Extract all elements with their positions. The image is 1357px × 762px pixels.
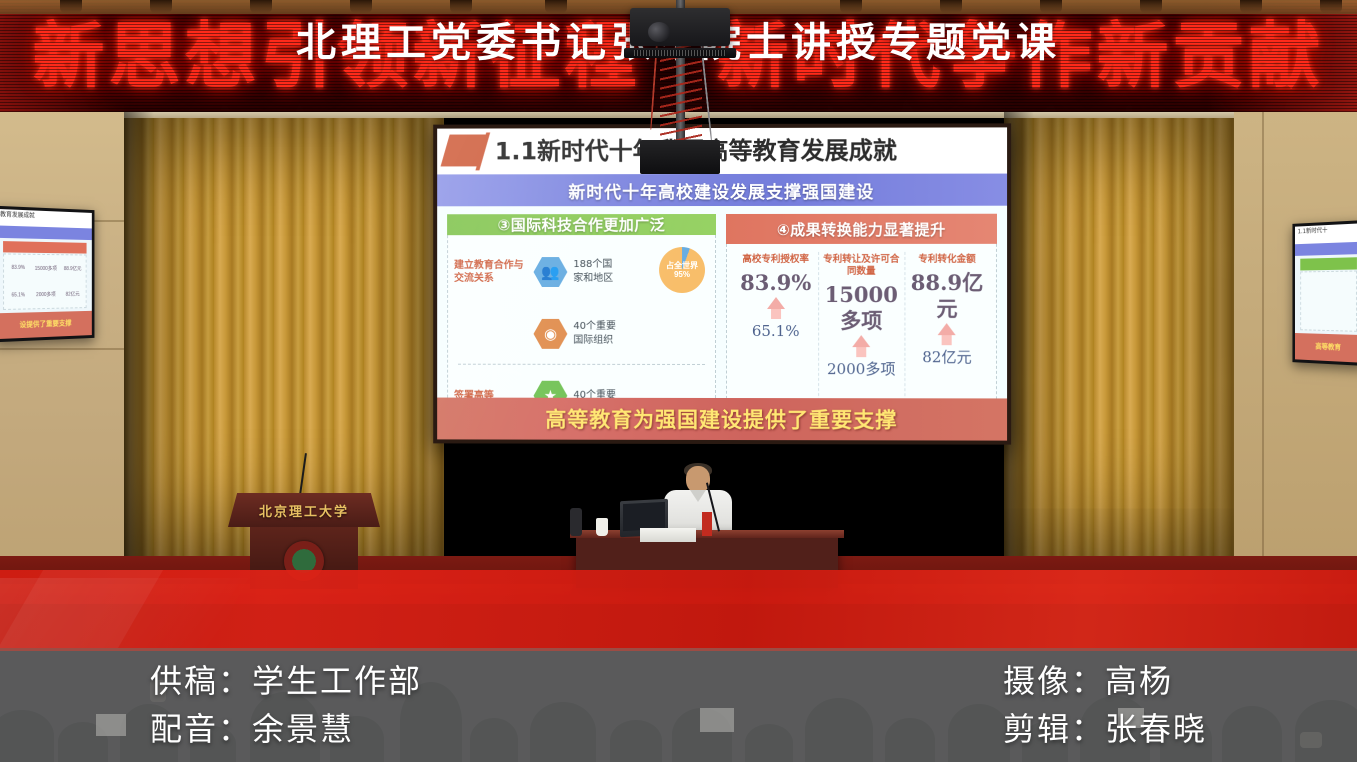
metric-column: 专利转化金额 88.9亿元 82亿元	[904, 250, 990, 414]
lectern-university-name: 北京理工大学	[228, 501, 380, 520]
stage-curtain-right	[1004, 108, 1234, 588]
side-monitor-left-content: 教育发展成就 83.9% 15000多项 88.9亿元 65.1% 2000多项…	[0, 209, 92, 339]
paper-cup	[596, 518, 608, 536]
arrow-stem-icon	[771, 309, 781, 319]
monitor-left-num-3: 88.9亿元	[59, 265, 85, 272]
projector-base	[640, 140, 720, 174]
slide-left-row-1-text: 188个国 家和地区	[573, 258, 613, 286]
monitor-left-band	[0, 226, 92, 240]
monitor-left-footer-text: 设提供了重要支撑	[20, 319, 72, 331]
slide-panel-right: ④成果转换能力显著提升 高校专利授权率 83.9% 65.1%	[726, 214, 997, 415]
slide-left-row-2-line-2: 国际组织	[573, 334, 616, 348]
monitor-left-num-6: 82亿元	[59, 291, 85, 298]
side-monitor-right-content: 1.1新时代十 高等教育	[1295, 223, 1357, 362]
slide-subtitle-text: 新时代十年高校建设发展支撑强国建设	[568, 177, 874, 202]
credits-content: 供稿：学生工作部 配音：余景慧 摄像：高杨 剪辑：张春晓	[0, 648, 1357, 762]
desk-flag-icon	[702, 512, 712, 536]
metric-column: 专利转让及许可合同数量 15000多项 2000多项	[818, 250, 904, 413]
arrow-up-icon	[852, 335, 870, 347]
lower-third-red-banner	[0, 570, 1357, 648]
auditorium-wall-left	[0, 108, 132, 588]
slide-footer-text: 高等教育为强国建设提供了重要支撑	[545, 404, 897, 435]
slide-panel-left-heading: ③国际科技合作更加广泛	[447, 214, 716, 235]
metric-current-value: 15000多项	[818, 282, 904, 334]
monitor-right-body	[1300, 271, 1357, 332]
metric-current-value: 83.9%	[733, 270, 818, 296]
video-frame: 教育发展成就 83.9% 15000多项 88.9亿元 65.1% 2000多项…	[0, 0, 1357, 762]
slide-left-row-1-label: 建立教育合作与交流关系	[454, 259, 528, 285]
slide-panel-left: ③国际科技合作更加广泛 占全世界 95% 建立教育合作与交流关系 👥 188个国…	[447, 214, 716, 414]
credit-line-contributor: 供稿：学生工作部	[150, 657, 422, 705]
arrow-up-icon	[767, 297, 785, 309]
credit-line-camera: 摄像：高杨	[1003, 657, 1207, 705]
metric-current-value: 88.9亿元	[904, 270, 990, 322]
slide-panel-right-heading: ④成果转换能力显著提升	[726, 214, 997, 244]
arrow-stem-icon	[942, 335, 952, 345]
speaker-head	[686, 466, 710, 493]
curtain-shadow-left	[124, 108, 154, 588]
monitor-left-head	[3, 241, 87, 254]
credit-line-editor: 剪辑：张春晓	[1003, 705, 1207, 753]
monitor-left-num-1: 83.9%	[4, 265, 32, 271]
credits-left-column: 供稿：学生工作部 配音：余景慧	[150, 657, 422, 753]
laptop-screen	[623, 502, 665, 531]
projector-vents	[634, 50, 726, 56]
monitor-left-num-2: 15000多项	[32, 265, 59, 272]
name-placard	[640, 528, 696, 542]
slide-right-columns: 高校专利授权率 83.9% 65.1% 专利转让及许可合同数量 15000多项	[733, 250, 990, 414]
metric-previous-value: 82亿元	[904, 347, 990, 367]
monitor-right-head	[1300, 257, 1357, 270]
monitor-left-body: 83.9% 15000多项 88.9亿元 65.1% 2000多项 82亿元	[3, 253, 87, 310]
credits-bar: 供稿：学生工作部 配音：余景慧 摄像：高杨 剪辑：张春晓	[0, 648, 1357, 762]
metric-caption: 专利转让及许可合同数量	[818, 254, 904, 278]
metric-previous-value: 2000多项	[818, 359, 904, 379]
slide-left-row-1-line-2: 家和地区	[573, 272, 613, 286]
slide-left-row-1-line-1: 188个国	[573, 258, 613, 272]
arrow-up-icon	[938, 323, 956, 335]
monitor-left-num-4: 65.1%	[4, 292, 32, 299]
side-monitor-right: 1.1新时代十 高等教育	[1292, 220, 1357, 366]
monitor-right-title: 1.1新时代十	[1295, 223, 1357, 244]
monitor-left-footer: 设提供了重要支撑	[0, 311, 92, 339]
metric-caption: 高校专利授权率	[733, 254, 818, 266]
speaker-person	[660, 466, 736, 536]
slide-panel-right-body: 高校专利授权率 83.9% 65.1% 专利转让及许可合同数量 15000多项	[726, 244, 997, 415]
credit-line-voiceover: 配音：余景慧	[150, 705, 422, 753]
monitor-right-footer: 高等教育	[1295, 333, 1357, 363]
projector-body	[630, 8, 730, 46]
slide-left-row-2-text: 40个重要 国际组织	[573, 320, 616, 348]
credits-right-column: 摄像：高杨 剪辑：张春晓	[1003, 657, 1207, 753]
metric-caption: 专利转化金额	[904, 254, 990, 266]
thermos-flask	[570, 508, 582, 536]
slide-left-row-2-line-1: 40个重要	[573, 320, 616, 334]
people-hex-icon: 👥	[534, 257, 568, 287]
metric-column: 高校专利授权率 83.9% 65.1%	[733, 250, 818, 413]
slide-left-row-1: 建立教育合作与交流关系 👥 188个国 家和地区	[454, 241, 709, 303]
ceiling-projector	[620, 0, 740, 180]
metric-previous-value: 65.1%	[733, 321, 818, 341]
arrow-stem-icon	[856, 347, 866, 357]
slide-panels: ③国际科技合作更加广泛 占全世界 95% 建立教育合作与交流关系 👥 188个国…	[437, 206, 1007, 415]
slide-left-row-2: ◉ 40个重要 国际组织	[454, 303, 709, 365]
projector-lens-icon	[648, 22, 670, 42]
side-monitor-left: 教育发展成就 83.9% 15000多项 88.9亿元 65.1% 2000多项…	[0, 206, 94, 343]
monitor-right-band	[1295, 241, 1357, 255]
monitor-left-num-5: 2000多项	[32, 291, 59, 298]
globe-hex-icon: ◉	[534, 319, 568, 349]
monitor-right-footer-text: 高等教育	[1315, 342, 1341, 353]
slide-footer-banner: 高等教育为强国建设提供了重要支撑	[437, 398, 1007, 441]
